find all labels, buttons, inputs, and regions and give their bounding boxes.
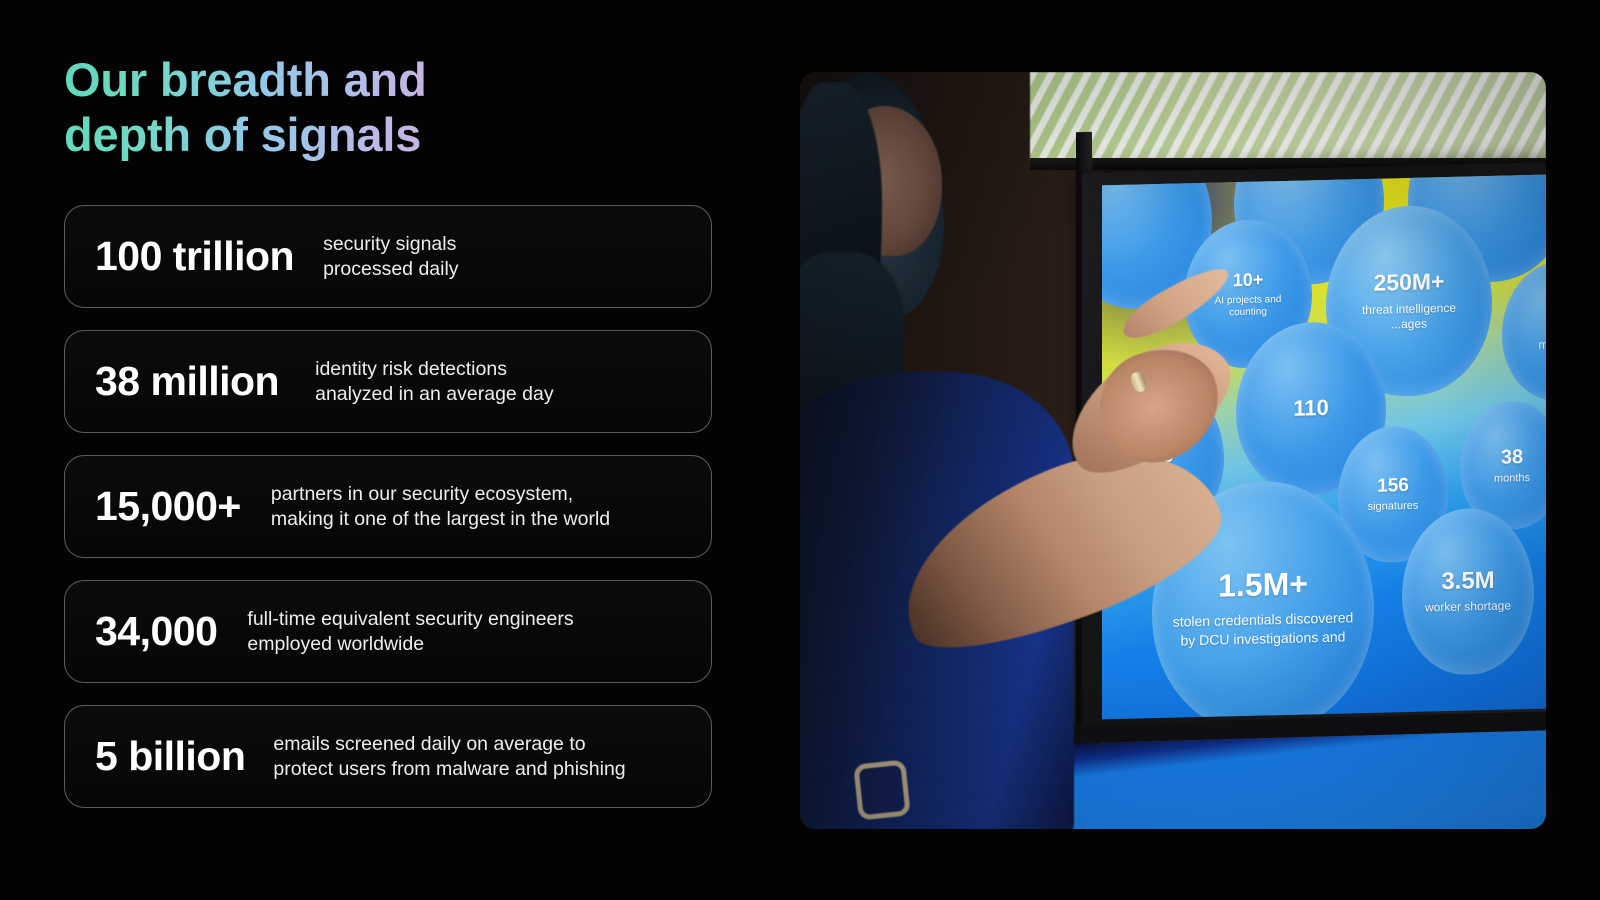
- stat-card[interactable]: 100 trillion security signals processed …: [64, 205, 712, 308]
- bubble-3-5m-worker-shortage: 3.5M worker shortage: [1402, 507, 1534, 676]
- stat-description: emails screened daily on average to prot…: [273, 732, 625, 782]
- lower-display-panel: [1068, 721, 1546, 829]
- stat-description: partners in our security ecosystem, maki…: [271, 482, 610, 532]
- bubble-number: 156: [1377, 475, 1409, 497]
- bubble-label: stolen credentials discovered by DCU inv…: [1173, 609, 1354, 650]
- bubble-label: worker shortage: [1425, 600, 1511, 616]
- stat-description: full-time equivalent security engineers …: [247, 607, 573, 657]
- bubble-number: 10+: [1233, 270, 1264, 291]
- stat-value: 34,000: [95, 608, 217, 655]
- presentation-photo: 10+ AI projects and counting 250M+ threa…: [800, 72, 1546, 829]
- bubble-number: 110: [1293, 396, 1329, 421]
- stat-value: 15,000+: [95, 483, 241, 530]
- left-content-column: Our breadth and depth of signals: [64, 52, 724, 163]
- projection-screen: [1030, 72, 1546, 160]
- bubble-number: 250M+: [1374, 269, 1445, 296]
- stat-value: 5 billion: [95, 733, 245, 780]
- bubble-label: threat intelligence ...ages: [1362, 301, 1456, 333]
- bubble-label: months: [1494, 471, 1530, 484]
- stat-card-list: 100 trillion security signals processed …: [64, 205, 712, 808]
- slide-canvas: Our breadth and depth of signals 100 tri…: [0, 0, 1600, 900]
- stat-card[interactable]: 34,000 full-time equivalent security eng…: [64, 580, 712, 683]
- stat-description: security signals processed daily: [323, 232, 459, 282]
- stat-card[interactable]: 5 billion emails screened daily on avera…: [64, 705, 712, 808]
- stat-value: 100 trillion: [95, 233, 294, 280]
- bubble-label: months: [1538, 337, 1546, 351]
- stat-value: 38 million: [95, 358, 279, 405]
- belt-buckle: [853, 759, 911, 820]
- bubble-number: 3.5M: [1441, 568, 1494, 596]
- bubble-16-months: 16 months: [1502, 261, 1546, 402]
- bubble-number: 38: [1501, 446, 1523, 469]
- bubble-number: 1.5M+: [1218, 566, 1308, 604]
- stat-card[interactable]: 38 million identity risk detections anal…: [64, 330, 712, 433]
- stat-card[interactable]: 15,000+ partners in our security ecosyst…: [64, 455, 712, 558]
- bubble-label: AI projects and counting: [1215, 294, 1282, 318]
- page-title: Our breadth and depth of signals: [64, 52, 724, 163]
- bubble-label: signatures: [1368, 500, 1419, 514]
- stat-description: identity risk detections analyzed in an …: [315, 357, 554, 407]
